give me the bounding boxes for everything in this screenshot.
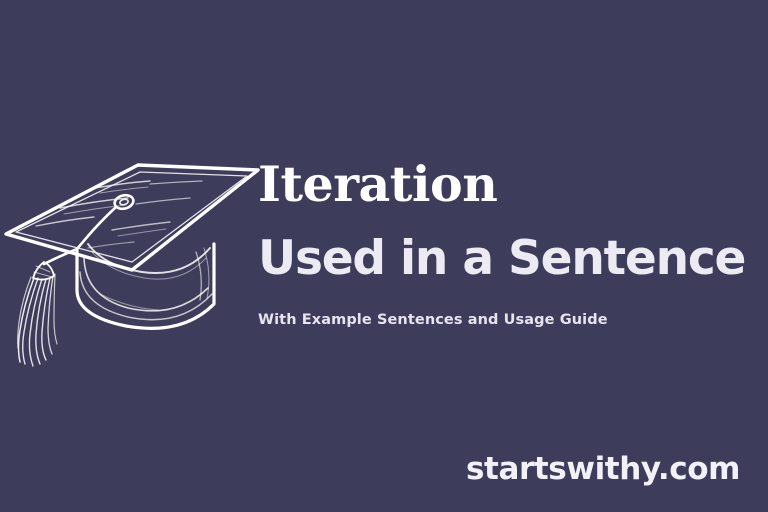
vocabulary-word-title: Iteration	[258, 160, 764, 209]
graduation-cap-icon	[0, 148, 268, 378]
hero-tagline: With Example Sentences and Usage Guide	[258, 312, 764, 329]
hero-headline: Used in a Sentence	[258, 235, 764, 282]
poster-canvas: Iteration Used in a Sentence With Exampl…	[0, 0, 768, 512]
site-domain-label: startswithy.com	[466, 451, 740, 487]
hero-text-block: Iteration Used in a Sentence With Exampl…	[258, 160, 764, 329]
